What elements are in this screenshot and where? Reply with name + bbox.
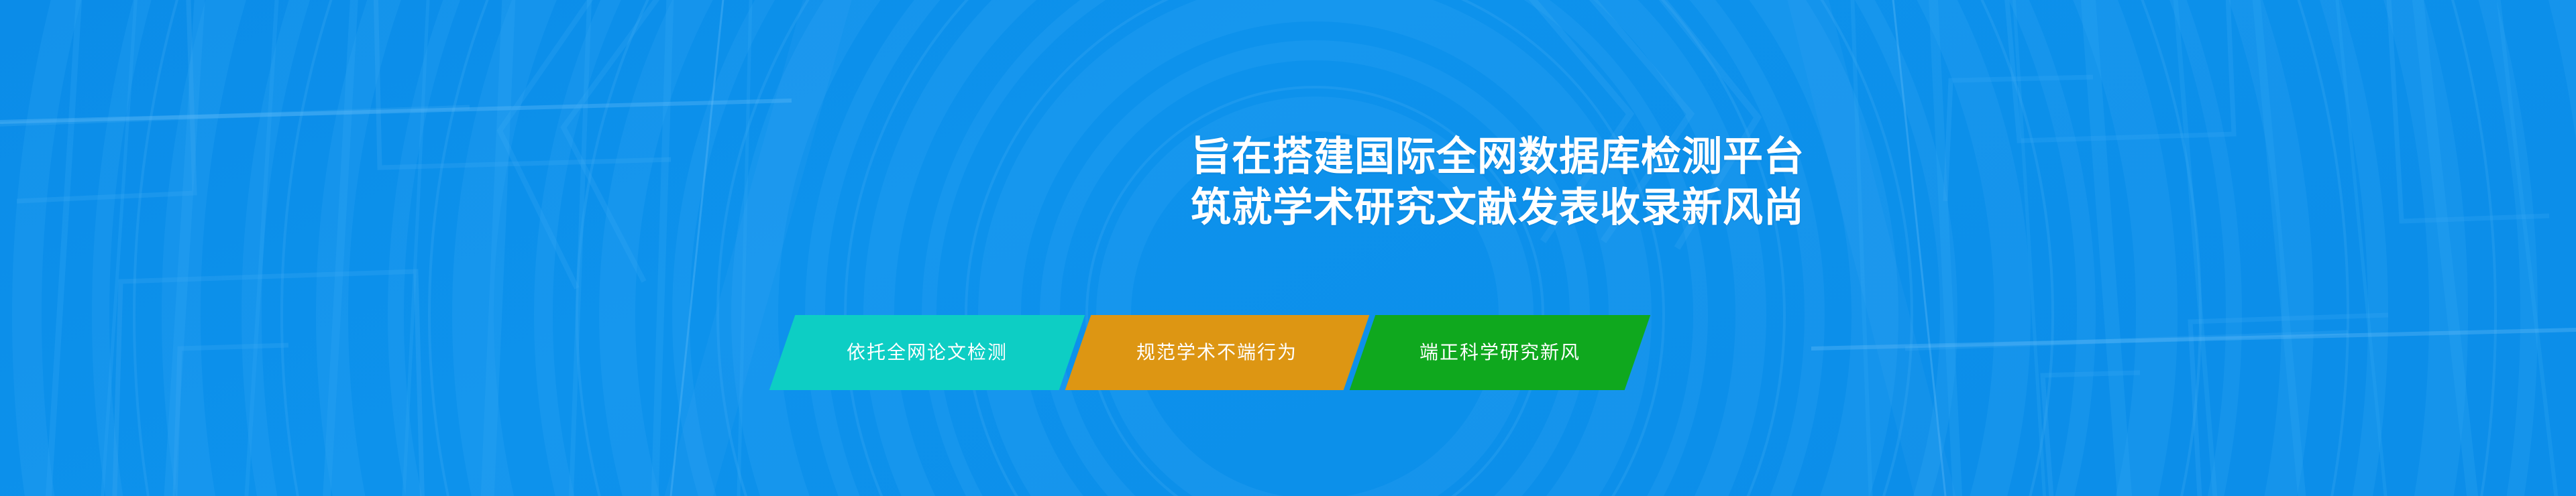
headline-line-1: 旨在搭建国际全网数据库检测平台 — [0, 131, 1805, 182]
background-tech-pattern — [0, 0, 2576, 496]
promo-banner: 旨在搭建国际全网数据库检测平台 筑就学术研究文献发表收录新风尚 依托全网论文检测… — [0, 0, 2576, 496]
headline-line-2: 筑就学术研究文献发表收录新风尚 — [0, 182, 1805, 233]
headline-block: 旨在搭建国际全网数据库检测平台 筑就学术研究文献发表收录新风尚 — [0, 131, 1805, 233]
feature-badge-integrity[interactable]: 端正科学研究新风 — [1350, 315, 1651, 390]
feature-badge-misconduct-label: 规范学术不端行为 — [1136, 343, 1297, 362]
feature-badge-detection[interactable]: 依托全网论文检测 — [769, 315, 1085, 390]
feature-badge-detection-label: 依托全网论文检测 — [847, 343, 1008, 362]
feature-badge-integrity-label: 端正科学研究新风 — [1419, 343, 1580, 362]
feature-badge-row: 依托全网论文检测 规范学术不端行为 端正科学研究新风 — [782, 315, 1638, 390]
feature-badge-misconduct[interactable]: 规范学术不端行为 — [1065, 315, 1370, 390]
